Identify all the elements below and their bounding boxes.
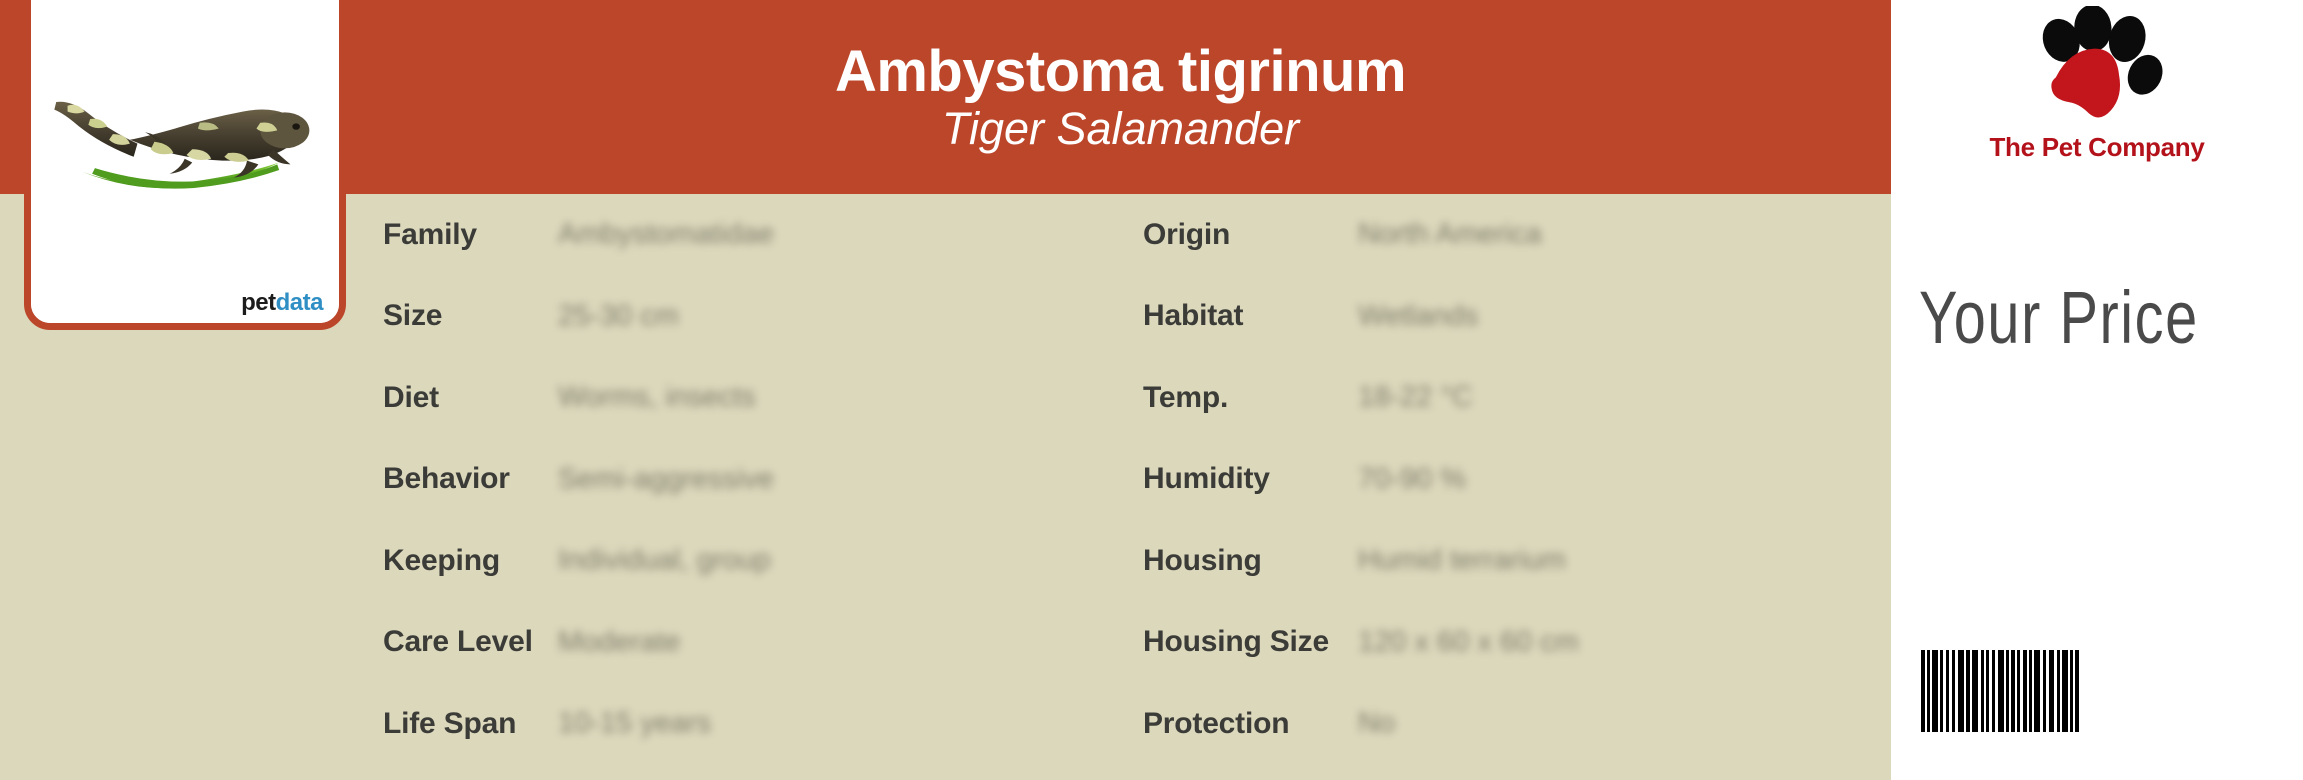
barcode-bar: [2075, 650, 2079, 732]
spec-label-housing: Housing: [1143, 546, 1358, 576]
spec-column-left: Family Ambystomatidae Size 25-30 cm Diet…: [383, 194, 1013, 780]
spec-value-housing: Humid terrarium: [1358, 546, 1566, 575]
spec-value-temp: 18-22 °C: [1358, 383, 1473, 412]
title-bar-inner: Ambystoma tigrinum Tiger Salamander: [350, 0, 1891, 194]
spec-row: Housing Size 120 x 60 x 60 cm: [1143, 602, 1843, 684]
spec-label-keeping: Keeping: [383, 546, 558, 576]
pet-label-card: Ambystoma tigrinum Tiger Salamander: [0, 0, 2303, 780]
spec-value-protection: No: [1358, 709, 1395, 738]
spec-label-origin: Origin: [1143, 220, 1358, 250]
spec-label-humidity: Humidity: [1143, 464, 1358, 494]
spec-row: Temp. 18-22 °C: [1143, 357, 1843, 439]
spec-grid: Family Ambystomatidae Size 25-30 cm Diet…: [0, 194, 1891, 780]
spec-value-humidity: 70-90 %: [1358, 465, 1466, 494]
spec-row: Humidity 70-90 %: [1143, 439, 1843, 521]
common-name: Tiger Salamander: [942, 106, 1299, 152]
spec-label-temp: Temp.: [1143, 383, 1358, 413]
spec-label-diet: Diet: [383, 383, 558, 413]
spec-row: Habitat Wetlands: [1143, 276, 1843, 358]
spec-label-family: Family: [383, 220, 558, 250]
spec-label-housing-size: Housing Size: [1143, 627, 1358, 657]
spec-row: Protection No: [1143, 683, 1843, 765]
price-heading: Your Price: [1919, 281, 2199, 355]
spec-row: Diet Worms, insects: [383, 357, 1013, 439]
spec-value-keeping: Individual, group: [558, 546, 771, 575]
spec-row: Care Level Moderate: [383, 602, 1013, 684]
spec-row: Keeping Individual, group: [383, 520, 1013, 602]
spec-label-size: Size: [383, 301, 558, 331]
info-panel: Ambystoma tigrinum Tiger Salamander: [0, 0, 1891, 780]
brand-logo: The Pet Company: [1891, 6, 2303, 196]
barcode: [1921, 650, 2221, 732]
paw-print-icon: [2013, 6, 2181, 138]
spec-row: Housing Humid terrarium: [1143, 520, 1843, 602]
spec-value-habitat: Wetlands: [1358, 302, 1478, 331]
spec-value-behavior: Semi-aggressive: [558, 465, 774, 494]
price-panel: The Pet Company Your Price: [1891, 0, 2303, 780]
spec-label-life-span: Life Span: [383, 709, 558, 739]
spec-column-right: Origin North America Habitat Wetlands Te…: [1143, 194, 1843, 780]
spec-label-habitat: Habitat: [1143, 301, 1358, 331]
brand-name: The Pet Company: [1989, 134, 2204, 160]
spec-row: Family Ambystomatidae: [383, 194, 1013, 276]
spec-value-care-level: Moderate: [558, 628, 681, 657]
spec-row: Origin North America: [1143, 194, 1843, 276]
spec-label-protection: Protection: [1143, 709, 1358, 739]
scientific-name: Ambystoma tigrinum: [835, 42, 1406, 101]
spec-value-housing-size: 120 x 60 x 60 cm: [1358, 628, 1579, 657]
spec-value-origin: North America: [1358, 220, 1542, 249]
spec-row: Behavior Semi-aggressive: [383, 439, 1013, 521]
spec-label-care-level: Care Level: [383, 627, 558, 657]
spec-value-life-span: 10-15 years: [558, 709, 711, 738]
spec-row: Size 25-30 cm: [383, 276, 1013, 358]
spec-row: Life Span 10-15 years: [383, 683, 1013, 765]
spec-value-family: Ambystomatidae: [558, 220, 774, 249]
spec-value-diet: Worms, insects: [558, 383, 756, 412]
spec-label-behavior: Behavior: [383, 464, 558, 494]
spec-value-size: 25-30 cm: [558, 302, 679, 331]
